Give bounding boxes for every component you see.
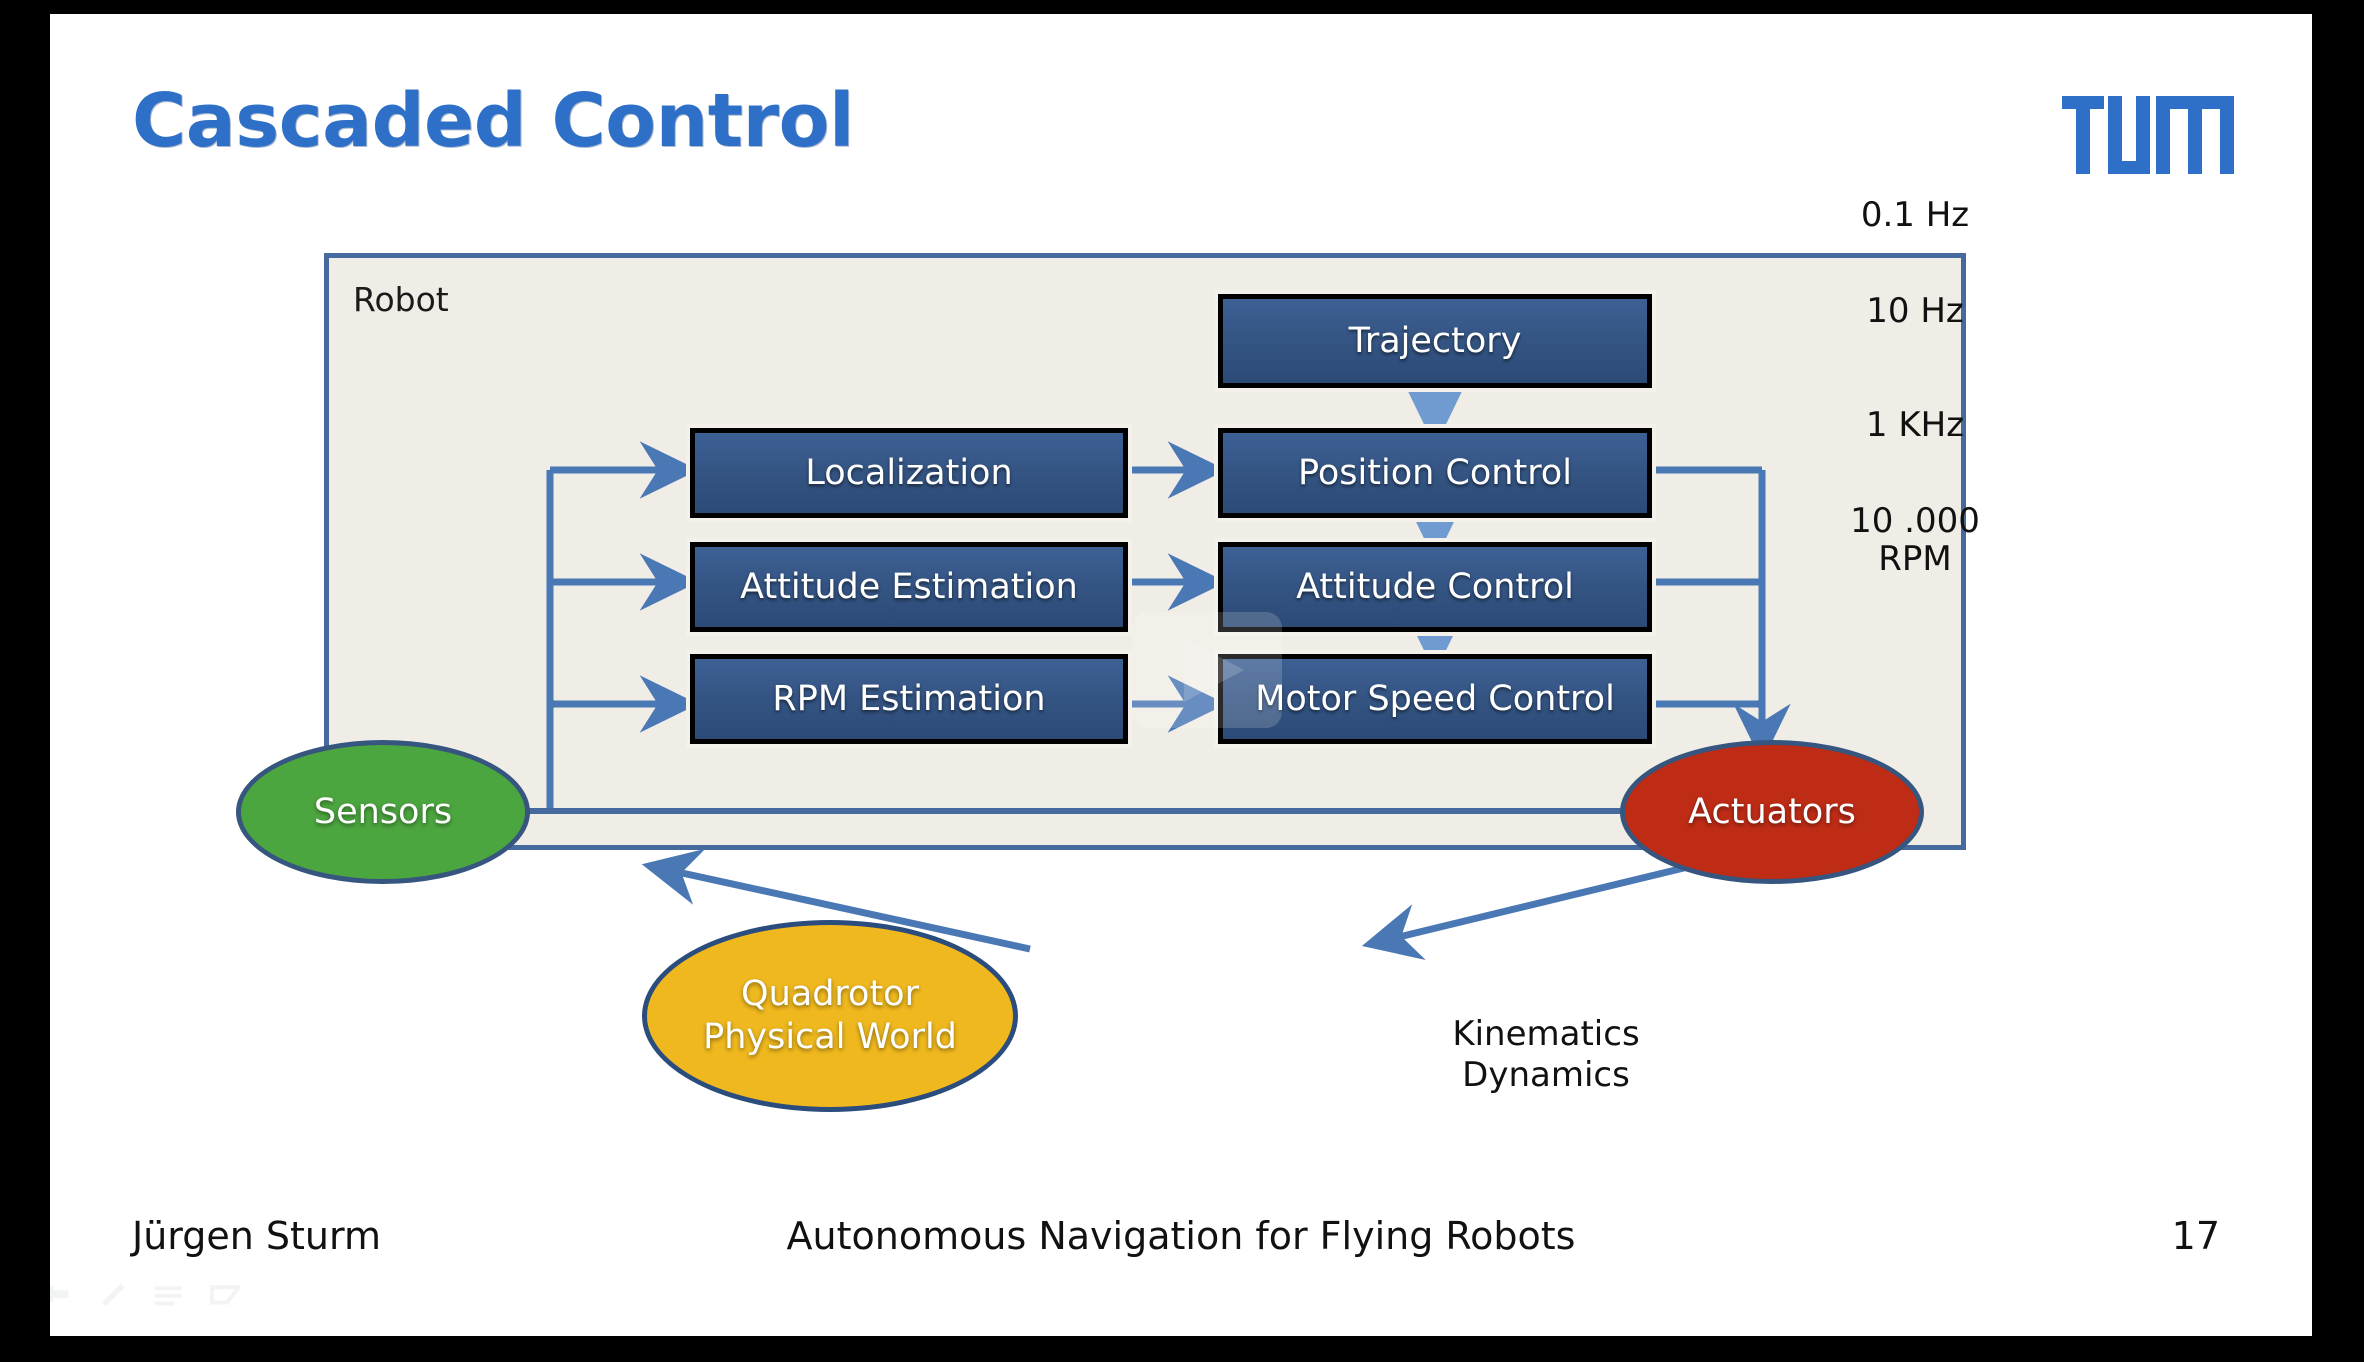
footer-page-number: 17 bbox=[2172, 1214, 2220, 1258]
box-rpm-estimation-label: RPM Estimation bbox=[772, 679, 1045, 719]
box-motor-speed-control[interactable]: Motor Speed Control bbox=[1218, 654, 1652, 744]
screen: Cascaded Control Robot bbox=[0, 0, 2364, 1362]
box-trajectory[interactable]: Trajectory bbox=[1218, 294, 1652, 388]
node-sensors[interactable]: Sensors bbox=[236, 740, 530, 884]
kinematics-dynamics-note: Kinematics Dynamics bbox=[1426, 1014, 1666, 1097]
edit-icon[interactable] bbox=[98, 1281, 127, 1307]
page-title: Cascaded Control bbox=[132, 84, 854, 158]
annotation-line-1: Kinematics bbox=[1426, 1014, 1666, 1055]
box-attitude-control-label: Attitude Control bbox=[1296, 567, 1574, 607]
rate-motor: 10 .000 RPM bbox=[1810, 502, 2020, 578]
reply-icon[interactable] bbox=[50, 1281, 72, 1307]
box-attitude-control[interactable]: Attitude Control bbox=[1218, 542, 1652, 632]
box-localization[interactable]: Localization bbox=[690, 428, 1128, 518]
node-sensors-label: Sensors bbox=[314, 791, 452, 834]
node-quadrotor[interactable]: Quadrotor Physical World bbox=[642, 920, 1018, 1112]
slide-canvas: Cascaded Control Robot bbox=[50, 14, 2312, 1336]
node-actuators-label: Actuators bbox=[1688, 791, 1856, 834]
share-icon[interactable] bbox=[210, 1281, 241, 1307]
box-motor-speed-control-label: Motor Speed Control bbox=[1255, 679, 1615, 719]
box-trajectory-label: Trajectory bbox=[1349, 321, 1522, 361]
box-position-control[interactable]: Position Control bbox=[1218, 428, 1652, 518]
rate-position: 10 Hz bbox=[1820, 292, 2010, 330]
node-actuators[interactable]: Actuators bbox=[1620, 740, 1924, 884]
box-rpm-estimation[interactable]: RPM Estimation bbox=[690, 654, 1128, 744]
robot-label: Robot bbox=[353, 280, 449, 319]
annotation-line-2: Dynamics bbox=[1426, 1055, 1666, 1096]
box-attitude-estimation-label: Attitude Estimation bbox=[740, 567, 1078, 607]
rate-attitude: 1 KHz bbox=[1820, 406, 2010, 444]
rate-trajectory: 0.1 Hz bbox=[1820, 196, 2010, 234]
box-position-control-label: Position Control bbox=[1298, 453, 1572, 493]
footer-course-title: Autonomous Navigation for Flying Robots bbox=[50, 1214, 2312, 1258]
tum-logo bbox=[2060, 96, 2236, 174]
box-localization-label: Localization bbox=[805, 453, 1012, 493]
node-quadrotor-label: Quadrotor Physical World bbox=[703, 973, 957, 1058]
box-attitude-estimation[interactable]: Attitude Estimation bbox=[690, 542, 1128, 632]
player-controls-ghost[interactable] bbox=[50, 1272, 240, 1316]
play-icon[interactable] bbox=[1132, 612, 1282, 728]
list-icon[interactable] bbox=[153, 1281, 184, 1307]
